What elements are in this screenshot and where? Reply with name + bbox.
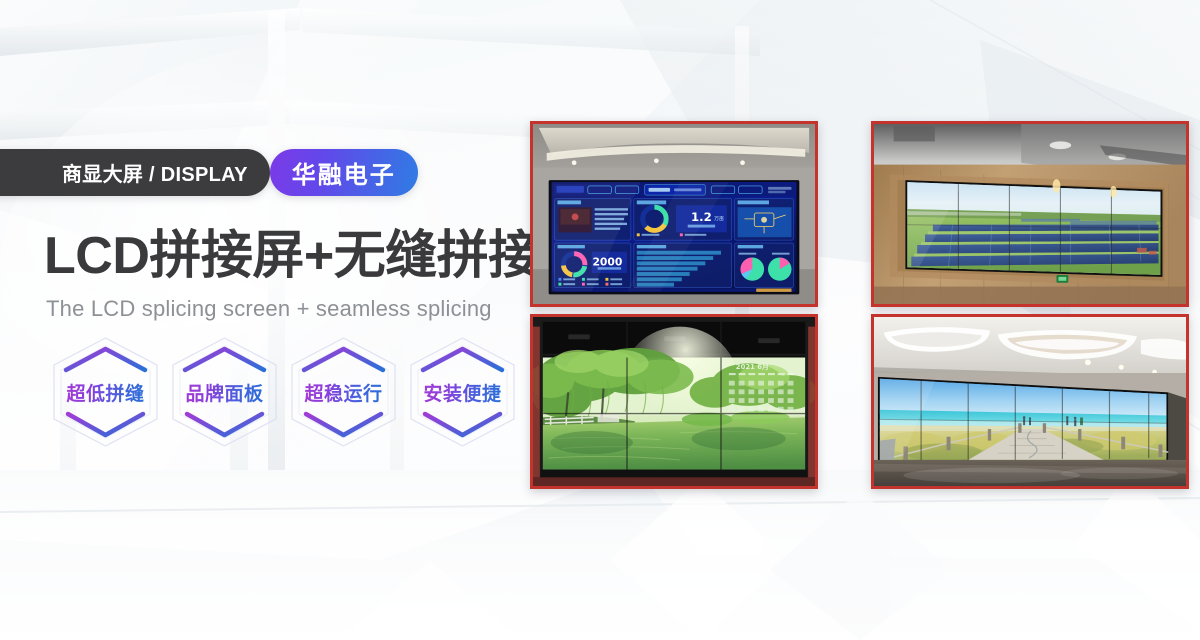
product-photo-solar-wall[interactable]	[871, 121, 1189, 307]
svg-text:2021 6月: 2021 6月	[736, 363, 769, 371]
feature-badge-0[interactable]: 超低拼缝	[46, 333, 165, 451]
feature-badge-label: 超低拼缝	[66, 379, 144, 406]
feature-badge-label: 安装便捷	[423, 379, 501, 406]
brand-tag-row: 商显大屏 / DISPLAY 华融电子	[48, 149, 418, 196]
brand-tag: 华融电子	[270, 149, 418, 196]
page-title: LCD拼接屏+无缝拼接	[44, 228, 540, 284]
dashboard-photo-graphic: 1.2 万亩	[533, 124, 815, 304]
solar-wall-photo-graphic	[874, 124, 1186, 304]
feature-badge-1[interactable]: 品牌面板	[165, 333, 284, 451]
feature-badge-3[interactable]: 安装便捷	[403, 333, 522, 451]
svg-text:万亩: 万亩	[714, 215, 724, 222]
feature-badge-label: 品牌面板	[185, 379, 263, 406]
category-tag: 商显大屏 / DISPLAY	[0, 149, 270, 196]
garden-wall-photo-graphic: 2021 6月	[533, 317, 815, 486]
product-photo-dashboard[interactable]: 1.2 万亩	[530, 121, 818, 307]
feature-badge-2[interactable]: 超稳运行	[284, 333, 403, 451]
beach-wall-photo-graphic	[874, 317, 1186, 486]
product-photo-beach-wall[interactable]	[871, 314, 1189, 489]
page-subtitle: The LCD splicing screen + seamless splic…	[46, 296, 492, 322]
product-photo-garden-wall[interactable]: 2021 6月	[530, 314, 818, 489]
feature-badge-list: 超低拼缝 品牌面板	[46, 333, 522, 451]
promo-banner: 商显大屏 / DISPLAY 华融电子 LCD拼接屏+无缝拼接 The LCD …	[0, 0, 1200, 640]
feature-badge-label: 超稳运行	[304, 379, 382, 406]
